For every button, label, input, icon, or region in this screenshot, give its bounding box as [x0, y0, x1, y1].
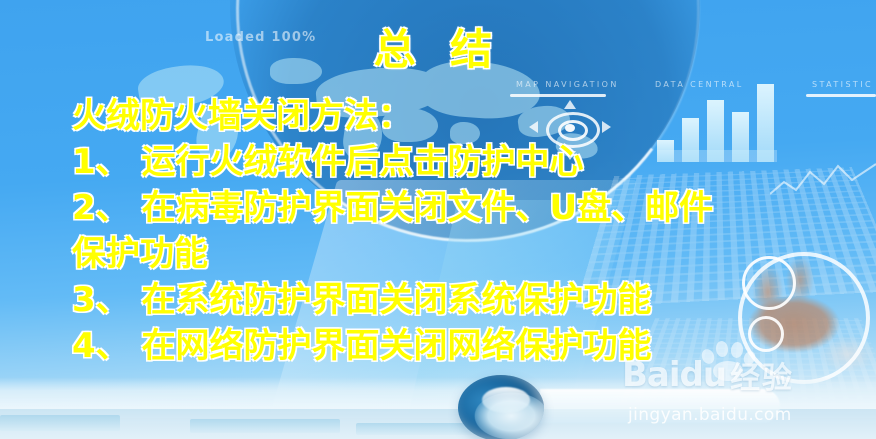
body-line: 火绒防火墙关闭方法：	[72, 93, 876, 139]
blue-sphere-highlight	[482, 387, 530, 413]
hud-label-data-central: DATA CENTRAL	[655, 80, 744, 89]
watermark-url: jingyan.baidu.com	[628, 405, 792, 425]
body-line: 3、 在系统防护界面关闭系统保护功能	[72, 277, 876, 323]
hud-label-statistic: STATISTIC	[812, 80, 873, 89]
body-line: 保护功能	[72, 231, 876, 277]
body-line: 1、 运行火绒软件后点击防护中心	[72, 139, 876, 185]
slide-canvas: Loaded 100% MAP NAVIGATION DATA CENTRAL …	[0, 0, 876, 439]
watermark-brand: Baidu	[622, 355, 726, 395]
slide-body: 火绒防火墙关闭方法： 1、 运行火绒软件后点击防护中心 2、 在病毒防护界面关闭…	[72, 93, 876, 369]
shelf-tile	[190, 419, 340, 433]
shelf-tile	[0, 415, 120, 431]
baidu-jingyan-watermark: Baidu 经验 jingyan.baidu.com	[622, 345, 862, 429]
shelf-tile	[356, 423, 476, 435]
body-line: 2、 在病毒防护界面关闭文件、U盘、邮件	[72, 185, 876, 231]
watermark-brand-cn: 经验	[730, 353, 794, 397]
blue-sphere-icon	[458, 375, 544, 439]
hud-label-map-navigation: MAP NAVIGATION	[516, 80, 619, 89]
page-title: 总 结	[0, 16, 876, 77]
